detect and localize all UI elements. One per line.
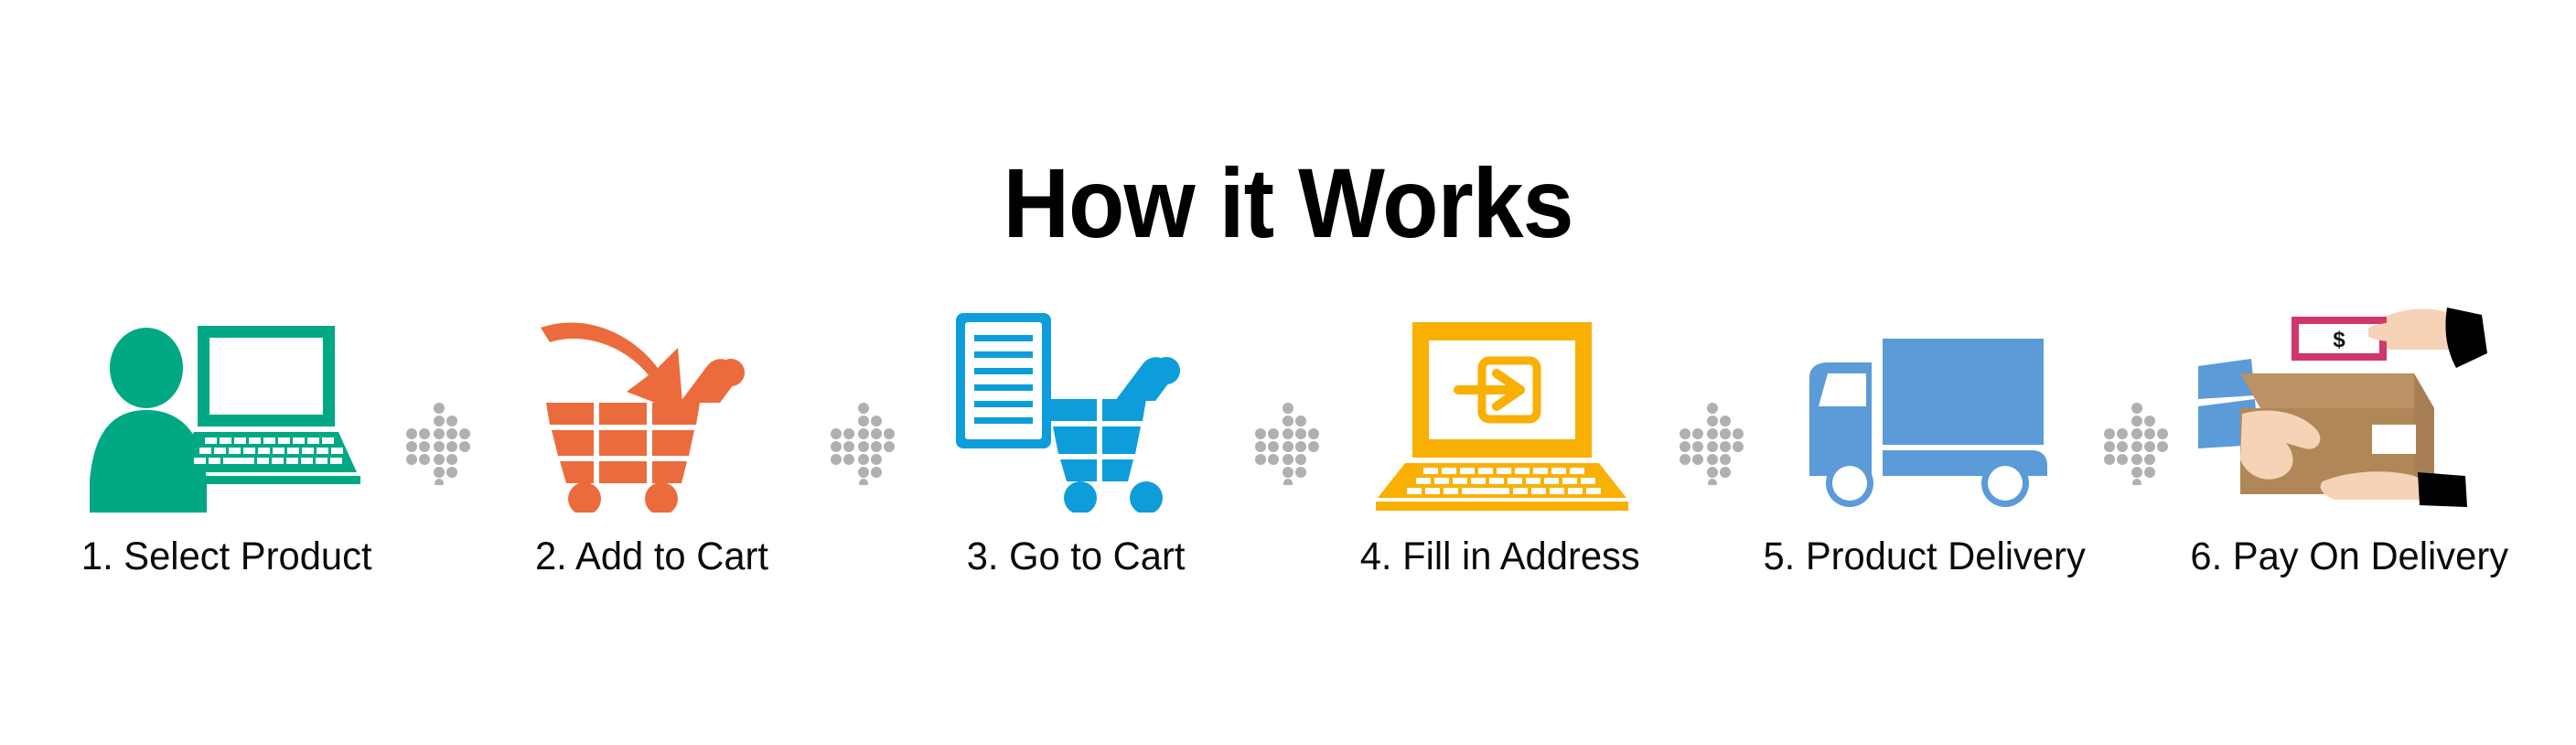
dotted-arrow-right-icon: [1678, 401, 1747, 485]
person-laptop-icon: [90, 320, 364, 513]
page-title: How it Works: [1003, 154, 1572, 253]
step-4-label: 4. Fill in Address: [1360, 536, 1640, 578]
step-2-add-to-cart[interactable]: 2. Add to Cart: [478, 302, 824, 668]
step-1-label: 1. Select Product: [81, 536, 372, 578]
cart-arrow-icon: [528, 311, 775, 513]
step-4-fill-in-address[interactable]: 4. Fill in Address: [1327, 302, 1673, 668]
step-1-select-product[interactable]: 1. Select Product: [54, 302, 400, 668]
title-container: How it Works: [0, 88, 2576, 319]
delivery-truck-icon: [1787, 329, 2062, 513]
dotted-arrow-right-icon: [1253, 401, 1323, 485]
step-6-pay-on-delivery[interactable]: $: [2176, 302, 2522, 668]
laptop-login-icon: [1363, 320, 1637, 513]
step-6-icon-container: $: [2198, 302, 2500, 513]
hands-box-money-icon: $: [2198, 302, 2500, 513]
dotted-arrow-right-icon: [829, 401, 898, 485]
step-6-label: 6. Pay On Delivery: [2190, 536, 2508, 578]
how-it-works-infographic: How it Works: [0, 0, 2576, 745]
money-dollar-symbol: $: [2333, 328, 2345, 352]
separator-5: [2098, 302, 2176, 668]
step-3-icon-container: [925, 302, 1227, 513]
step-5-icon-container: [1774, 302, 2076, 513]
step-2-label: 2. Add to Cart: [534, 536, 767, 578]
step-3-go-to-cart[interactable]: 3. Go to Cart: [903, 302, 1249, 668]
step-1-icon-container: [76, 302, 378, 513]
steps-strip: 1. Select Product: [0, 302, 2576, 668]
step-4-icon-container: [1349, 302, 1651, 513]
separator-3: [1249, 302, 1327, 668]
separator-1: [400, 302, 478, 668]
step-2-icon-container: [500, 302, 802, 513]
document-cart-icon: [952, 311, 1199, 513]
dotted-arrow-right-icon: [2102, 401, 2172, 485]
step-5-label: 5. Product Delivery: [1764, 536, 2086, 578]
separator-4: [1673, 302, 1752, 668]
dotted-arrow-right-icon: [404, 401, 474, 485]
separator-2: [824, 302, 903, 668]
step-5-product-delivery[interactable]: 5. Product Delivery: [1752, 302, 2098, 668]
step-3-label: 3. Go to Cart: [967, 536, 1186, 578]
